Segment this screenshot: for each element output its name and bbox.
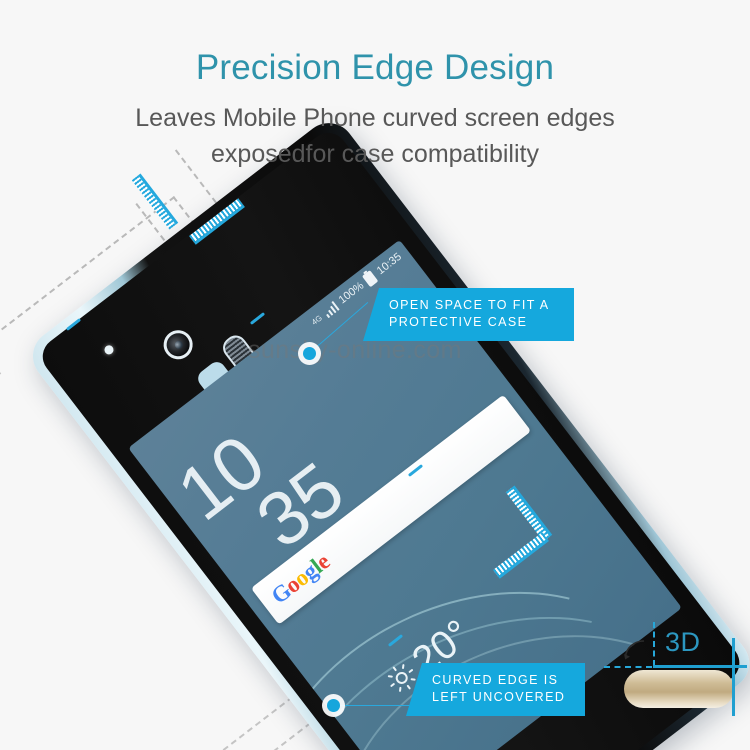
guide-line-lower-left [0, 372, 1, 514]
guide-line-lower-right [102, 690, 302, 750]
callout-anchor-dot-open [303, 347, 316, 360]
ruler-top-left-a [132, 174, 178, 230]
status-time-label: 10:35 [375, 251, 404, 277]
edge-diagram: 3D [620, 616, 750, 726]
signal-icon [321, 300, 339, 318]
header-block: Precision Edge Design Leaves Mobile Phon… [0, 46, 750, 172]
edge-diagram-horizontal-dash [604, 666, 652, 668]
edge-diagram-right-line [732, 638, 735, 716]
edge-diagram-vertical-dash [653, 622, 655, 666]
callout-open-space-line2: PROTECTIVE CASE [389, 314, 561, 331]
callout-curved-edge: CURVED EDGE IS LEFT UNCOVERED [406, 663, 585, 716]
callout-anchor-dot-curved [327, 699, 340, 712]
network-label: 4G [310, 313, 324, 327]
page-title: Precision Edge Design [0, 46, 750, 90]
callout-open-space: OPEN SPACE TO FIT A PROTECTIVE CASE [363, 288, 574, 341]
page-subtitle-line2: exposedfor case compatibility [0, 136, 750, 172]
guide-line-bottom-edge [159, 716, 319, 750]
edge-diagram-label: 3D [665, 627, 701, 658]
product-marketing-image: Precision Edge Design Leaves Mobile Phon… [0, 0, 750, 750]
led-indicator-icon [103, 344, 116, 357]
callout-leader-curved [337, 705, 417, 706]
callout-curved-edge-line2: LEFT UNCOVERED [432, 689, 572, 706]
battery-percent-label: 100% [337, 280, 367, 307]
battery-icon [362, 270, 378, 287]
curve-arrow-icon [622, 638, 648, 664]
callout-open-space-line1: OPEN SPACE TO FIT A [389, 297, 561, 314]
microphone-icon[interactable] [492, 412, 514, 435]
front-camera-icon [158, 324, 199, 365]
curved-edge-bar [624, 670, 734, 708]
page-subtitle-line1: Leaves Mobile Phone curved screen edges [0, 100, 750, 136]
callout-curved-edge-line1: CURVED EDGE IS [432, 672, 572, 689]
